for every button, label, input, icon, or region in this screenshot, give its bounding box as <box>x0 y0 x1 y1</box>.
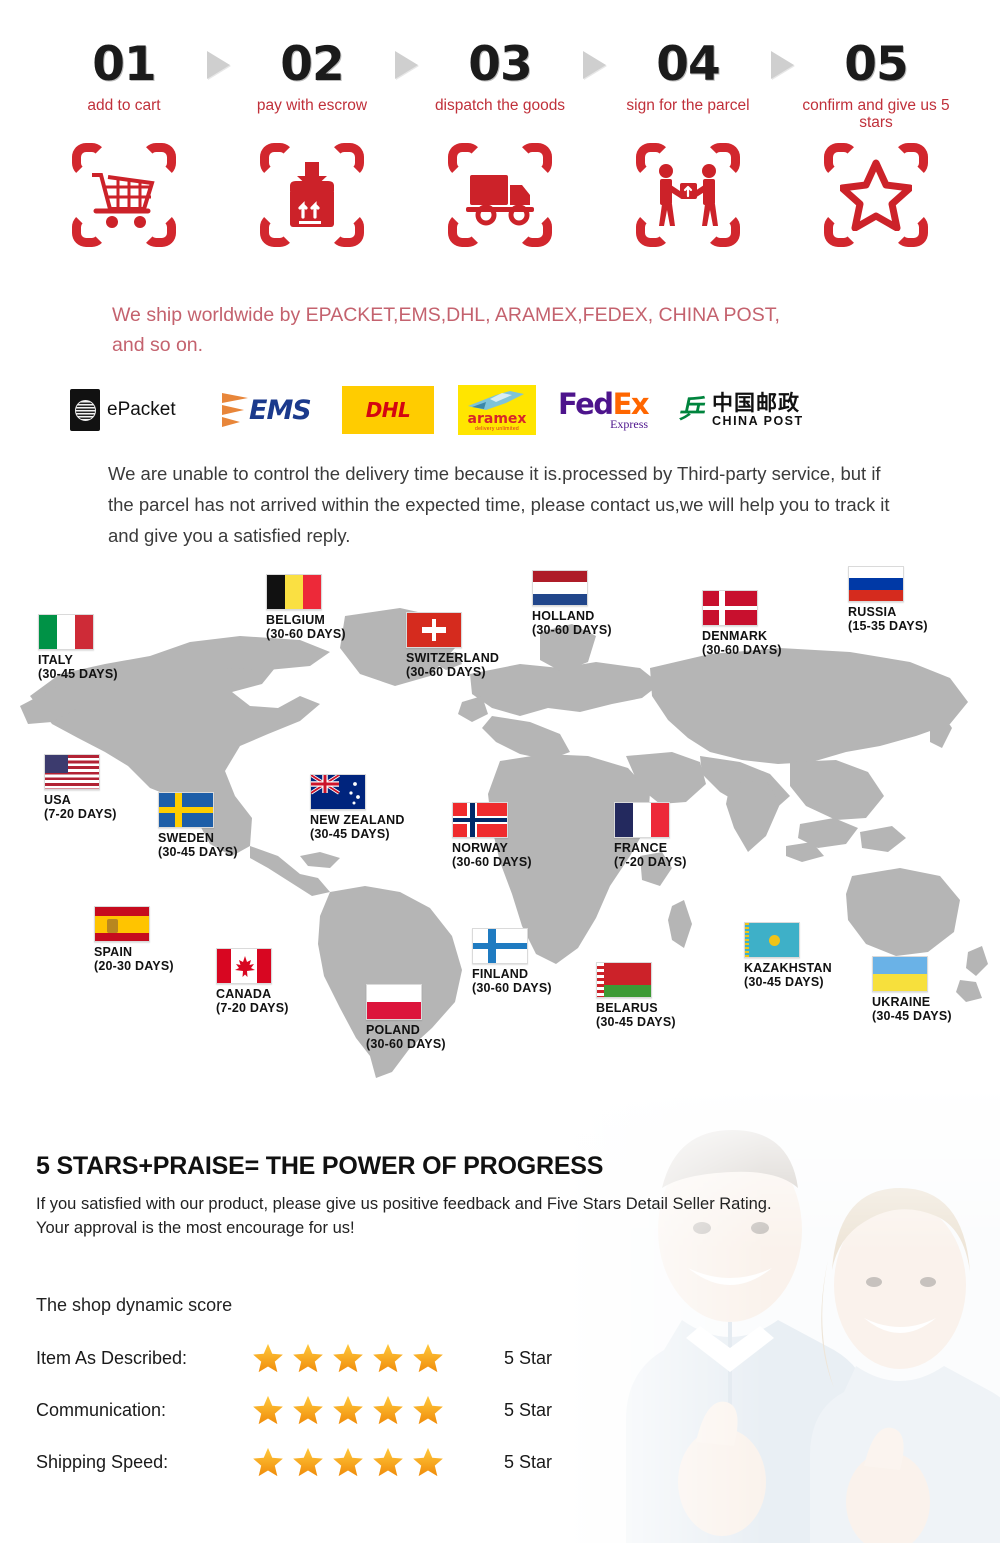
flag-poland <box>366 984 422 1020</box>
flag-switzerland <box>406 612 462 648</box>
step-label: sign for the parcel <box>612 97 764 114</box>
country-days: (30-60 DAYS) <box>406 665 499 679</box>
delivery-time-note: We are unable to control the delivery ti… <box>108 458 908 551</box>
step-number: 04 <box>612 36 764 94</box>
china-post-label-en: CHINA POST <box>712 414 804 428</box>
star-icon <box>331 1341 365 1375</box>
step-number: 03 <box>424 36 576 94</box>
flag-holland <box>532 570 588 606</box>
country-name: DENMARK <box>702 629 782 643</box>
dhl-label: DHL <box>366 398 411 422</box>
country-days: (30-60 DAYS) <box>472 981 552 995</box>
star-rating <box>251 1341 496 1375</box>
ems-arrow-icon <box>222 393 249 427</box>
star-icon <box>411 1341 445 1375</box>
carrier-aramex: aramex delivery unlimited <box>458 382 536 438</box>
map-country-switzerland: SWITZERLAND (30-60 DAYS) <box>406 612 499 679</box>
country-days: (30-60 DAYS) <box>366 1037 446 1051</box>
map-country-new-zealand: NEW ZEALAND (30-45 DAYS) <box>310 774 405 841</box>
star-icon <box>331 1445 365 1479</box>
step-icon-cell-5 <box>800 140 952 250</box>
step-number: 02 <box>236 36 388 94</box>
country-days: (30-60 DAYS) <box>266 627 346 641</box>
country-days: (30-45 DAYS) <box>310 827 405 841</box>
order-steps: 01 add to cart 02 pay with escrow 03 dis… <box>0 36 1000 136</box>
map-country-kazakhstan: KAZAKHSTAN (30-45 DAYS) <box>744 922 832 989</box>
rating-value: 5 Star <box>504 1452 552 1473</box>
praise-body-line-1: If you satisfied with our product, pleas… <box>36 1192 916 1216</box>
epacket-label: ePacket <box>107 399 176 421</box>
country-days: (30-45 DAYS) <box>744 975 832 989</box>
flag-kazakhstan <box>744 922 800 958</box>
flag-belarus <box>596 962 652 998</box>
step-arrow-1 <box>200 36 236 94</box>
step-02: 02 pay with escrow <box>236 36 388 114</box>
step-label: confirm and give us 5 stars <box>800 97 952 131</box>
step-arrow-4 <box>764 36 800 94</box>
country-name: USA <box>44 793 117 807</box>
praise-section: 5 STARS+PRAISE= THE POWER OF PROGRESS If… <box>0 1090 1000 1543</box>
delivery-truck-icon <box>464 159 536 231</box>
step-04: 04 sign for the parcel <box>612 36 764 114</box>
country-days: (30-45 DAYS) <box>872 1009 952 1023</box>
star-icon <box>371 1341 405 1375</box>
praise-title: 5 STARS+PRAISE= THE POWER OF PROGRESS <box>36 1152 603 1181</box>
ship-by-line-1: We ship worldwide by EPACKET,EMS,DHL, AR… <box>112 300 912 330</box>
country-name: KAZAKHSTAN <box>744 961 832 975</box>
rating-value: 5 Star <box>504 1400 552 1421</box>
rating-row: Shipping Speed: 5 Star <box>36 1436 552 1488</box>
ship-by-line-2: and so on. <box>112 330 912 360</box>
fedex-logo: FedEx <box>558 389 648 419</box>
step-label: add to cart <box>48 97 200 114</box>
star-icon <box>411 1445 445 1479</box>
country-days: (30-45 DAYS) <box>596 1015 676 1029</box>
country-days: (7-20 DAYS) <box>216 1001 289 1015</box>
step-03: 03 dispatch the goods <box>424 36 576 114</box>
rating-row: Item As Described: 5 Star <box>36 1332 552 1384</box>
step-icon-cell-4 <box>612 140 764 250</box>
country-days: (30-60 DAYS) <box>452 855 532 869</box>
box-download-icon <box>276 159 348 231</box>
step-number: 01 <box>48 36 200 94</box>
star-icon <box>371 1393 405 1427</box>
flag-belgium <box>266 574 322 610</box>
step-icon-cell-3 <box>424 140 576 250</box>
step-icon-cell-1 <box>48 140 200 250</box>
step-icon-cell-2 <box>236 140 388 250</box>
country-days: (15-35 DAYS) <box>848 619 928 633</box>
icon-frame <box>448 143 552 247</box>
map-country-holland: HOLLAND (30-60 DAYS) <box>532 570 612 637</box>
rating-label: Item As Described: <box>36 1348 251 1369</box>
country-name: CANADA <box>216 987 289 1001</box>
rating-label: Communication: <box>36 1400 251 1421</box>
carrier-dhl: DHL <box>342 382 434 438</box>
fedex-label-ex: Ex <box>613 387 649 421</box>
carrier-epacket: ePacket <box>70 382 176 438</box>
star-icon <box>291 1445 325 1479</box>
map-country-poland: POLAND (30-60 DAYS) <box>366 984 446 1051</box>
country-name: SWITZERLAND <box>406 651 499 665</box>
map-country-russia: RUSSIA (15-35 DAYS) <box>848 566 928 633</box>
country-days: (30-60 DAYS) <box>532 623 612 637</box>
carrier-ems: EMS <box>222 382 311 438</box>
aramex-logo: aramex delivery unlimited <box>458 385 536 435</box>
star-rating <box>251 1393 496 1427</box>
rating-value: 5 Star <box>504 1348 552 1369</box>
rating-label: Shipping Speed: <box>36 1452 251 1473</box>
ship-worldwide-text: We ship worldwide by EPACKET,EMS,DHL, AR… <box>112 300 912 360</box>
map-country-france: FRANCE (7-20 DAYS) <box>614 802 687 869</box>
country-days: (30-60 DAYS) <box>702 643 782 657</box>
flag-new-zealand <box>310 774 366 810</box>
icon-frame <box>72 143 176 247</box>
map-country-norway: NORWAY (30-60 DAYS) <box>452 802 532 869</box>
rating-rows: Item As Described: 5 Star Communication:… <box>36 1332 552 1488</box>
country-name: RUSSIA <box>848 605 928 619</box>
order-step-icons <box>0 140 1000 250</box>
map-country-ukraine: UKRAINE (30-45 DAYS) <box>872 956 952 1023</box>
step-arrow-2 <box>388 36 424 94</box>
flag-finland <box>472 928 528 964</box>
step-label: dispatch the goods <box>424 97 576 114</box>
rating-row: Communication: 5 Star <box>36 1384 552 1436</box>
ems-label: EMS <box>249 395 311 426</box>
country-name: UKRAINE <box>872 995 952 1009</box>
flag-denmark <box>702 590 758 626</box>
icon-frame <box>636 143 740 247</box>
flag-canada <box>216 948 272 984</box>
flag-russia <box>848 566 904 602</box>
china-post-mark-icon: 乒 <box>677 397 709 423</box>
worldwide-shipping-map: ITALY (30-45 DAYS) BELGIUM (30-60 DAYS) … <box>0 556 1000 1086</box>
star-icon <box>291 1341 325 1375</box>
flag-usa <box>44 754 100 790</box>
country-name: FRANCE <box>614 841 687 855</box>
map-country-usa: USA (7-20 DAYS) <box>44 754 117 821</box>
china-post-label-cn: 中国邮政 <box>712 392 804 414</box>
dynamic-score-label: The shop dynamic score <box>36 1295 232 1316</box>
country-days: (7-20 DAYS) <box>44 807 117 821</box>
step-label: pay with escrow <box>236 97 388 114</box>
star-icon <box>251 1445 285 1479</box>
icon-frame <box>824 143 928 247</box>
country-days: (30-45 DAYS) <box>38 667 118 681</box>
flag-norway <box>452 802 508 838</box>
flag-ukraine <box>872 956 928 992</box>
country-name: ITALY <box>38 653 118 667</box>
star-icon <box>371 1445 405 1479</box>
carrier-fedex: FedEx Express <box>558 382 648 438</box>
icon-frame <box>260 143 364 247</box>
map-country-spain: SPAIN (20-30 DAYS) <box>94 906 174 973</box>
flag-spain <box>94 906 150 942</box>
map-country-canada: CANADA (7-20 DAYS) <box>216 948 289 1015</box>
star-icon <box>331 1393 365 1427</box>
fedex-sublabel: Express <box>558 417 648 432</box>
handover-parcel-icon <box>652 159 724 231</box>
carrier-logos: ePacket EMS DHL aramex delivery unlimite… <box>70 382 940 438</box>
star-icon <box>251 1341 285 1375</box>
country-days: (30-45 DAYS) <box>158 845 238 859</box>
country-days: (20-30 DAYS) <box>94 959 174 973</box>
country-name: BELGIUM <box>266 613 346 627</box>
happy-customers-photo <box>570 1090 1000 1543</box>
dhl-logo: DHL <box>342 386 434 434</box>
shopping-cart-icon <box>88 159 160 231</box>
fedex-label-fed: Fed <box>558 387 613 421</box>
country-name: NEW ZEALAND <box>310 813 405 827</box>
airplane-icon <box>466 389 528 413</box>
country-days: (7-20 DAYS) <box>614 855 687 869</box>
star-outline-icon <box>840 159 912 231</box>
country-name: SPAIN <box>94 945 174 959</box>
step-01: 01 add to cart <box>48 36 200 114</box>
flag-sweden <box>158 792 214 828</box>
map-country-denmark: DENMARK (30-60 DAYS) <box>702 590 782 657</box>
flag-italy <box>38 614 94 650</box>
map-country-belarus: BELARUS (30-45 DAYS) <box>596 962 676 1029</box>
country-name: POLAND <box>366 1023 446 1037</box>
map-country-sweden: SWEDEN (30-45 DAYS) <box>158 792 238 859</box>
country-name: FINLAND <box>472 967 552 981</box>
praise-body: If you satisfied with our product, pleas… <box>36 1192 916 1240</box>
aramex-tagline: delivery unlimited <box>475 426 519 432</box>
map-country-belgium: BELGIUM (30-60 DAYS) <box>266 574 346 641</box>
carrier-china-post: 乒 中国邮政 CHINA POST <box>680 382 804 438</box>
star-icon <box>251 1393 285 1427</box>
map-country-finland: FINLAND (30-60 DAYS) <box>472 928 552 995</box>
country-name: BELARUS <box>596 1001 676 1015</box>
praise-body-line-2: Your approval is the most encourage for … <box>36 1216 916 1240</box>
step-05: 05 confirm and give us 5 stars <box>800 36 952 131</box>
flag-france <box>614 802 670 838</box>
country-name: NORWAY <box>452 841 532 855</box>
country-name: HOLLAND <box>532 609 612 623</box>
star-rating <box>251 1445 496 1479</box>
star-icon <box>291 1393 325 1427</box>
map-country-italy: ITALY (30-45 DAYS) <box>38 614 118 681</box>
star-icon <box>411 1393 445 1427</box>
step-arrow-3 <box>576 36 612 94</box>
epacket-globe-icon <box>70 389 100 431</box>
step-number: 05 <box>800 36 952 94</box>
country-name: SWEDEN <box>158 831 238 845</box>
aramex-label: aramex <box>468 413 527 426</box>
